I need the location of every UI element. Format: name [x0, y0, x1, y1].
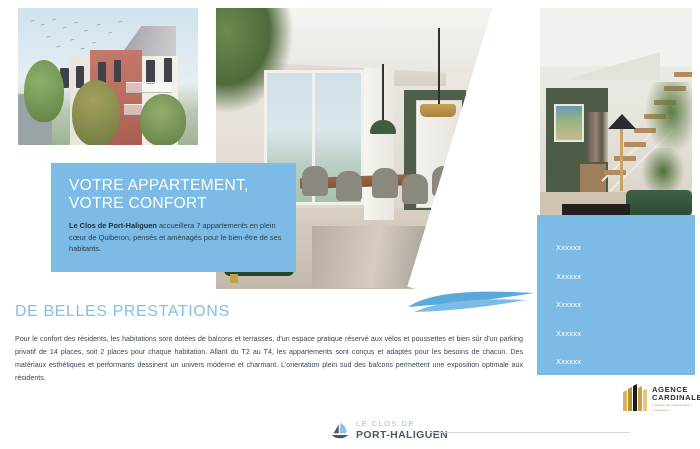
feature-item: Xxxxxx [556, 243, 581, 253]
floor-lamp-pole [620, 129, 623, 191]
title-panel: VOTRE APPARTEMENT, VOTRE CONFORT Le Clos… [51, 163, 296, 272]
sailboat-icon [330, 421, 351, 442]
wave-swoosh-icon [406, 288, 538, 314]
agence-logo-tagline1: • Syndic de copropriété • [652, 403, 692, 407]
le-clos-logo-line2: PORT-HALIGUEN [356, 429, 448, 441]
panel-paragraph-bold: Le Clos de Port-Haliguen [69, 221, 157, 230]
framed-artwork [554, 104, 584, 142]
feature-item: Xxxxxx [556, 329, 581, 339]
feature-item: Xxxxxx [556, 300, 581, 310]
panel-heading: VOTRE APPARTEMENT, VOTRE CONFORT [69, 177, 281, 213]
tree-right [140, 94, 186, 145]
residence-exterior-photo [18, 8, 198, 145]
page-title: DE BELLES PRESTATIONS [15, 303, 230, 321]
feature-list: Xxxxxx Xxxxxx Xxxxxx Xxxxxx Xxxxxx [556, 243, 581, 386]
body-paragraph: Pour le confort des résidents, les habit… [15, 333, 523, 385]
feature-item: Xxxxxx [556, 357, 581, 367]
logo-divider [430, 432, 630, 433]
panel-heading-line1: VOTRE APPARTEMENT, [69, 177, 281, 195]
dining-chair [402, 174, 428, 204]
balcony-upper [126, 82, 172, 93]
entry-staircase-photo [540, 8, 692, 216]
le-clos-logo-line1: LE CLOS DE [356, 419, 415, 428]
body-copy: Pour le confort des résidents, les habit… [15, 333, 523, 385]
cardinale-bars-icon [622, 382, 648, 412]
panel-paragraph: Le Clos de Port-Haliguen accueillera 7 a… [69, 220, 283, 255]
plant-upper [644, 82, 692, 156]
agence-logo-tagline2: • Gérance • [652, 408, 671, 412]
features-panel: Xxxxxx Xxxxxx Xxxxxx Xxxxxx Xxxxxx [537, 215, 695, 375]
dining-chair [302, 166, 328, 196]
feature-item: Xxxxxx [556, 272, 581, 282]
tree-left [24, 60, 64, 122]
agence-cardinale-logo: AGENCE CARDINALE • Syndic de copropriété… [622, 380, 696, 418]
brochure-page: VOTRE APPARTEMENT, VOTRE CONFORT Le Clos… [0, 0, 700, 449]
dining-chair [336, 171, 362, 201]
panel-heading-line2: VOTRE CONFORT [69, 195, 281, 213]
dining-chair [372, 168, 398, 198]
tree-center [72, 80, 120, 145]
agence-logo-line2: CARDINALE [652, 393, 700, 402]
birds-flock-icon [26, 18, 136, 52]
green-sofa [626, 190, 692, 216]
pendant-lamp-gold [420, 104, 456, 117]
